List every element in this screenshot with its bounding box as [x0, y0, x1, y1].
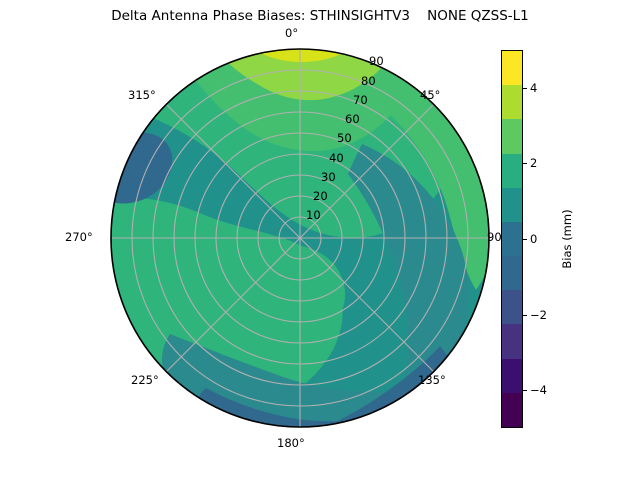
figure-canvas: Delta Antenna Phase Biases: STHINSIGHTV3… [0, 0, 640, 480]
polar-radial-tick-10: 10 [306, 208, 321, 222]
polar-angular-tick-135: 135° [418, 373, 446, 387]
polar-radial-tick-60: 60 [345, 112, 360, 126]
colorbar-band-minus4-to-minus3 [502, 324, 522, 358]
colorbar-tickmark-minus4 [523, 390, 527, 391]
polar-radial-tick-20: 20 [313, 189, 328, 203]
polar-contour-plot [110, 48, 490, 428]
colorbar-band-minus1-to-0 [502, 222, 522, 256]
polar-radial-tick-80: 80 [361, 74, 376, 88]
colorbar-axis-label: Bias (mm) [560, 209, 574, 268]
colorbar-ticklabel-minus4: −4 [530, 383, 547, 397]
polar-angular-tick-315: 315° [128, 88, 156, 102]
colorbar-band-4-to-5 [502, 51, 522, 85]
colorbar-band-3-to-4 [502, 85, 522, 119]
polar-radial-tick-40: 40 [329, 151, 344, 165]
colorbar-band-2-to-3 [502, 119, 522, 153]
page-title: Delta Antenna Phase Biases: STHINSIGHTV3… [0, 8, 640, 24]
colorbar-tickmark-0 [523, 239, 527, 240]
polar-angular-tick-270: 270° [65, 230, 93, 244]
polar-axes[interactable]: 0° 45° 90 135° 180° 225° 270° 315° 10 20… [110, 48, 490, 428]
polar-radial-tick-30: 30 [321, 170, 336, 184]
polar-angular-tick-90: 90 [487, 230, 502, 244]
colorbar-band-minus45-to-minus4 [502, 359, 522, 393]
polar-angular-tick-180: 180° [277, 436, 305, 450]
colorbar-band-1-to-2 [502, 154, 522, 188]
polar-radial-tick-90: 90 [369, 54, 384, 68]
polar-angular-tick-45: 45° [420, 88, 440, 102]
colorbar-ticklabel-minus2: −2 [530, 308, 547, 322]
colorbar-band-0-to-1 [502, 188, 522, 222]
colorbar-band-minus5-to-minus45 [502, 393, 522, 427]
colorbar-ticklabel-2: 2 [530, 156, 537, 170]
polar-angular-tick-0: 0° [285, 26, 298, 40]
colorbar-tickmark-4 [523, 88, 527, 89]
colorbar-tickmark-minus2 [523, 315, 527, 316]
colorbar-band-minus2-to-minus1 [502, 256, 522, 290]
colorbar-gradient [501, 50, 523, 428]
polar-radial-tick-70: 70 [353, 93, 368, 107]
polar-angular-tick-225: 225° [131, 373, 159, 387]
colorbar-ticklabel-4: 4 [530, 81, 537, 95]
colorbar[interactable]: 4 2 0 −2 −4 [501, 50, 523, 428]
colorbar-band-minus3-to-minus2 [502, 290, 522, 324]
polar-radial-tick-50: 50 [337, 131, 352, 145]
colorbar-tickmark-2 [523, 163, 527, 164]
polar-angular-gridlines [111, 49, 489, 427]
colorbar-ticklabel-0: 0 [530, 232, 537, 246]
